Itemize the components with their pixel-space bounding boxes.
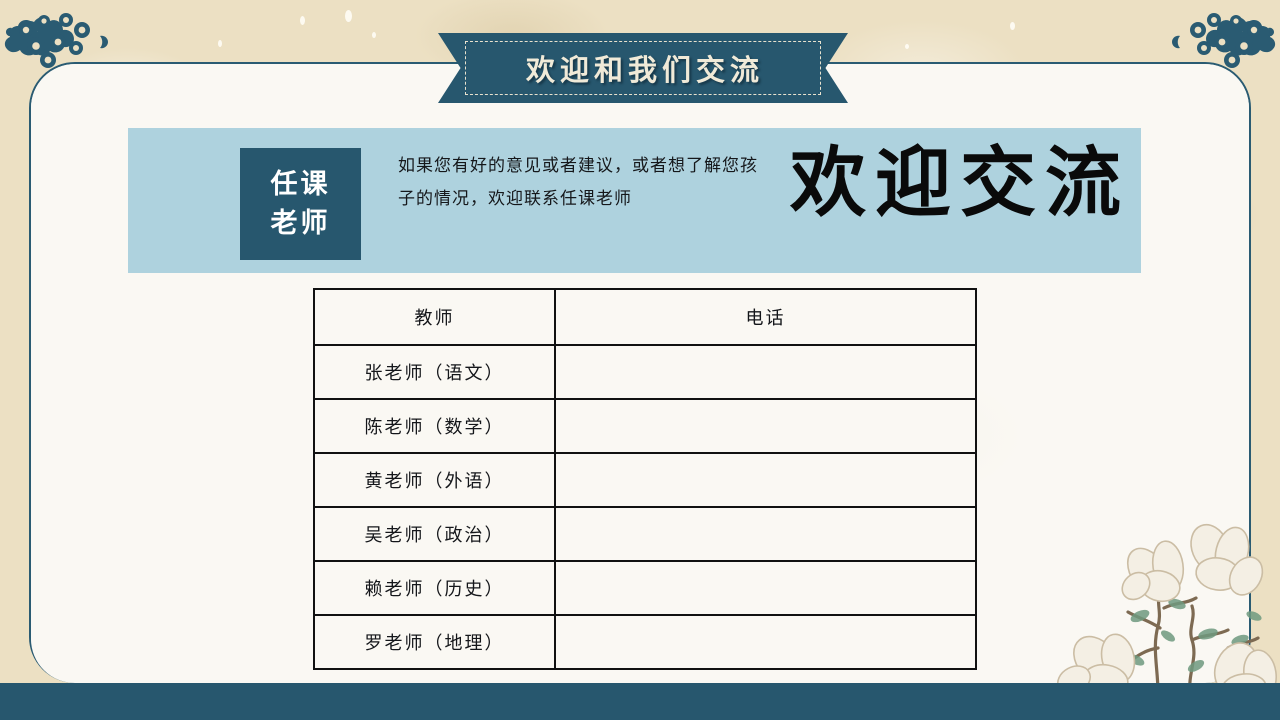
cell-teacher: 陈老师（数学） xyxy=(314,399,555,453)
title-banner: 欢迎和我们交流 xyxy=(438,33,848,103)
paper-speck xyxy=(905,44,909,49)
cell-phone[interactable] xyxy=(555,507,976,561)
column-header-teacher: 教师 xyxy=(314,289,555,345)
cell-phone[interactable] xyxy=(555,399,976,453)
cell-phone[interactable] xyxy=(555,615,976,669)
paper-speck xyxy=(300,16,305,25)
paper-speck xyxy=(218,40,222,47)
section-label-badge: 任课 老师 xyxy=(240,148,361,260)
slide-canvas: 欢迎和我们交流 任课 老师 如果您有好的意见或者建议，或者想了解您孩子的情况，欢… xyxy=(0,0,1280,720)
table-row: 陈老师（数学） xyxy=(314,399,976,453)
calligraphy-heading: 欢迎交流 xyxy=(780,143,1140,223)
section-label-line1: 任课 xyxy=(271,165,331,204)
cell-teacher: 黄老师（外语） xyxy=(314,453,555,507)
cell-teacher: 吴老师（政治） xyxy=(314,507,555,561)
section-label-line2: 老师 xyxy=(271,204,331,243)
table-header-row: 教师 电话 xyxy=(314,289,976,345)
table-row: 黄老师（外语） xyxy=(314,453,976,507)
paper-speck xyxy=(372,32,376,38)
cloud-ornament-icon xyxy=(4,6,116,90)
cell-teacher: 赖老师（历史） xyxy=(314,561,555,615)
cell-teacher: 罗老师（地理） xyxy=(314,615,555,669)
cell-phone[interactable] xyxy=(555,453,976,507)
cell-teacher: 张老师（语文） xyxy=(314,345,555,399)
paper-speck xyxy=(1010,22,1015,30)
cloud-ornament-icon xyxy=(1164,6,1276,90)
page-title: 欢迎和我们交流 xyxy=(438,33,848,103)
cell-phone[interactable] xyxy=(555,345,976,399)
table-row: 吴老师（政治） xyxy=(314,507,976,561)
bottom-bar xyxy=(0,683,1280,720)
table-row: 赖老师（历史） xyxy=(314,561,976,615)
teacher-contact-table: 教师 电话 张老师（语文） 陈老师（数学） 黄老师（外语） 吴老师（政治） xyxy=(313,288,977,670)
info-paragraph: 如果您有好的意见或者建议，或者想了解您孩子的情况，欢迎联系任课老师 xyxy=(398,150,758,216)
paper-speck xyxy=(345,10,352,22)
cell-phone[interactable] xyxy=(555,561,976,615)
column-header-phone: 电话 xyxy=(555,289,976,345)
table-row: 罗老师（地理） xyxy=(314,615,976,669)
table-row: 张老师（语文） xyxy=(314,345,976,399)
